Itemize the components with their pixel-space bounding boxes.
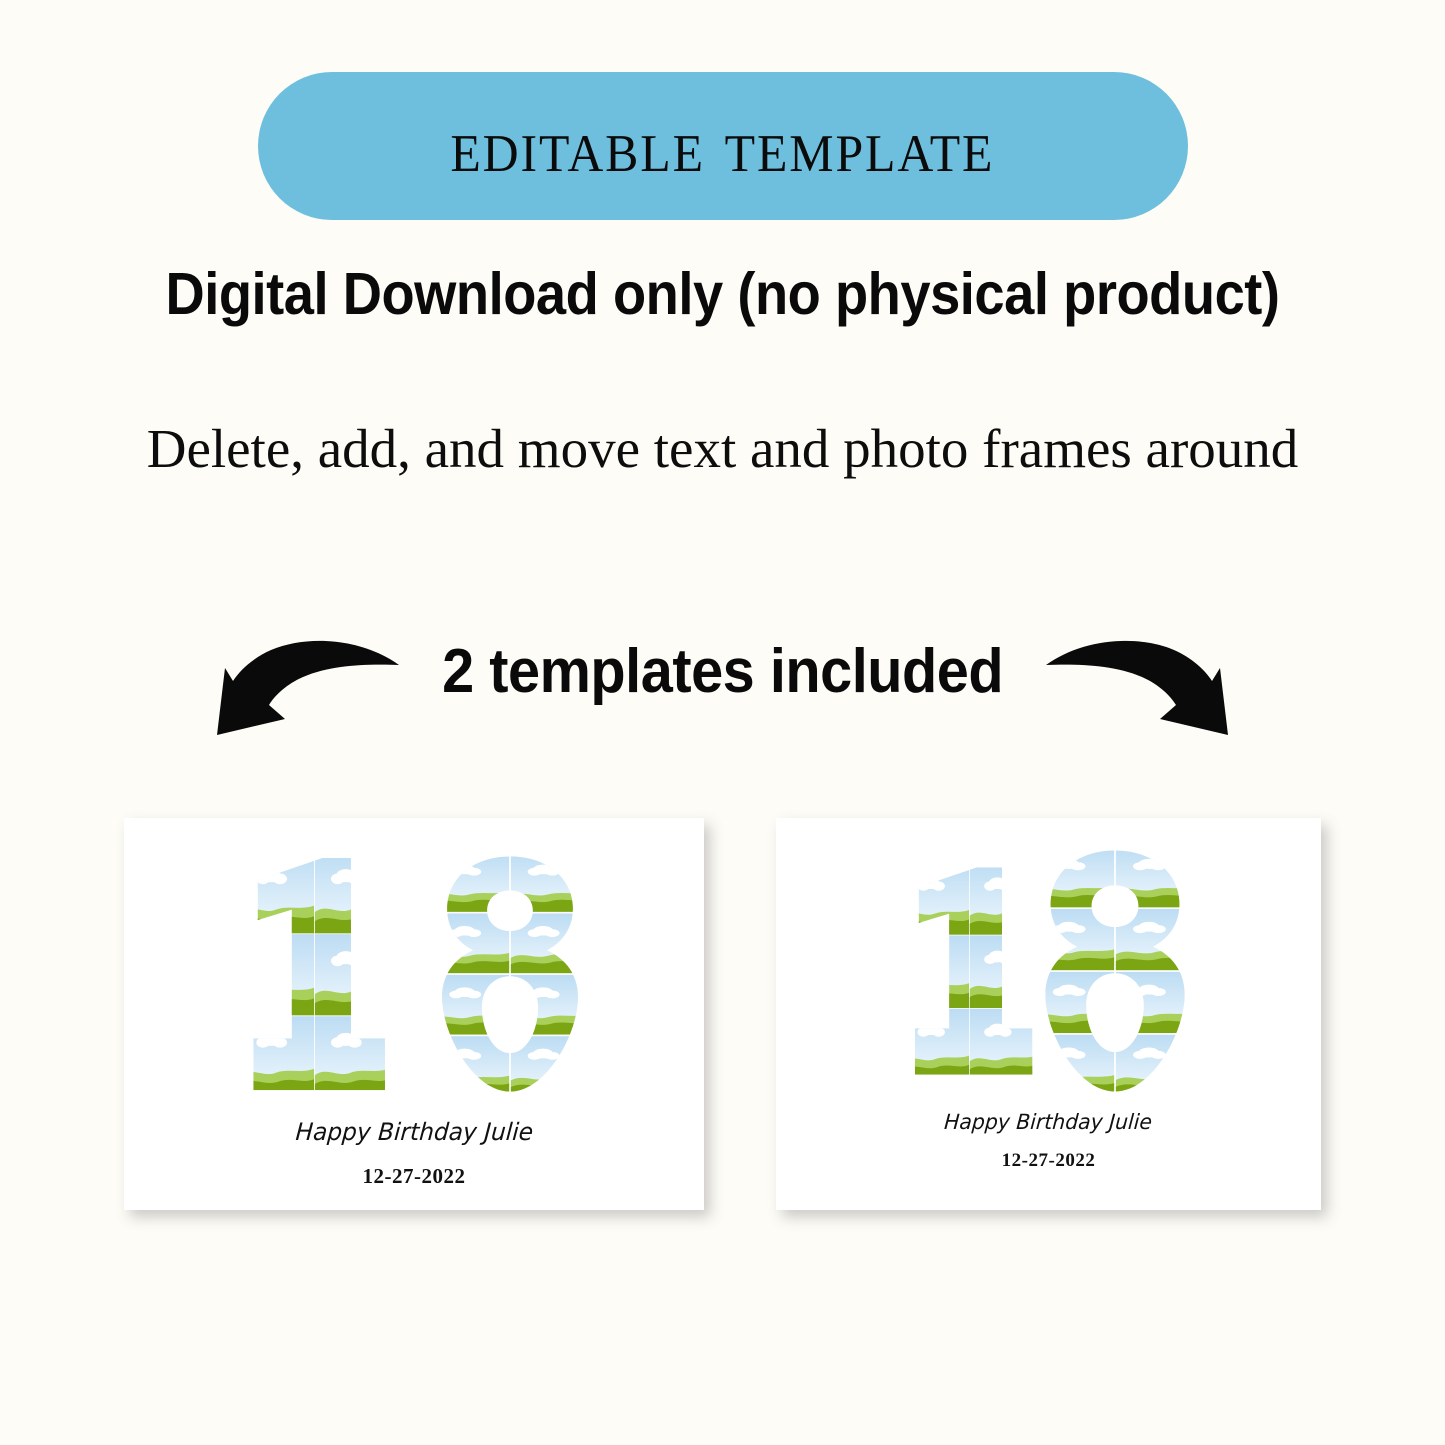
banner-label: Editable Template xyxy=(451,108,995,184)
number-artwork-joined xyxy=(903,846,1195,1096)
editable-template-banner: Editable Template xyxy=(258,72,1188,220)
card-date-joined: 12-27-2022 xyxy=(1002,1150,1096,1172)
digit-one-photo-tiles xyxy=(240,852,388,1096)
card-caption-spaced: Happy Birthday Julie xyxy=(294,1118,533,1146)
template-preview-card-spaced[interactable]: Happy Birthday Julie 12-27-2022 xyxy=(124,818,704,1210)
card-date-spaced: 12-27-2022 xyxy=(363,1164,466,1189)
templates-included-row: 2 templates included xyxy=(0,620,1445,740)
banner-region: Editable Template xyxy=(0,72,1445,220)
digit-eight-photo-tiles xyxy=(1035,846,1195,1096)
curved-arrow-down-left-icon xyxy=(213,623,403,738)
digit-eight-photo-tiles xyxy=(432,852,588,1096)
templates-included-label: 2 templates included xyxy=(442,641,1003,703)
template-preview-card-joined[interactable]: Happy Birthday Julie 12-27-2022 xyxy=(776,818,1321,1210)
curved-arrow-down-right-icon xyxy=(1042,623,1232,738)
number-artwork-spaced xyxy=(240,852,588,1096)
digit-one-photo-tiles xyxy=(903,846,1035,1096)
card-caption-joined: Happy Birthday Julie xyxy=(944,1110,1154,1134)
subtext-edit-instructions: Delete, add, and move text and photo fra… xyxy=(0,415,1445,482)
template-previews: Happy Birthday Julie 12-27-2022 xyxy=(0,818,1445,1210)
headline-digital-download: Digital Download only (no physical produ… xyxy=(58,262,1387,327)
